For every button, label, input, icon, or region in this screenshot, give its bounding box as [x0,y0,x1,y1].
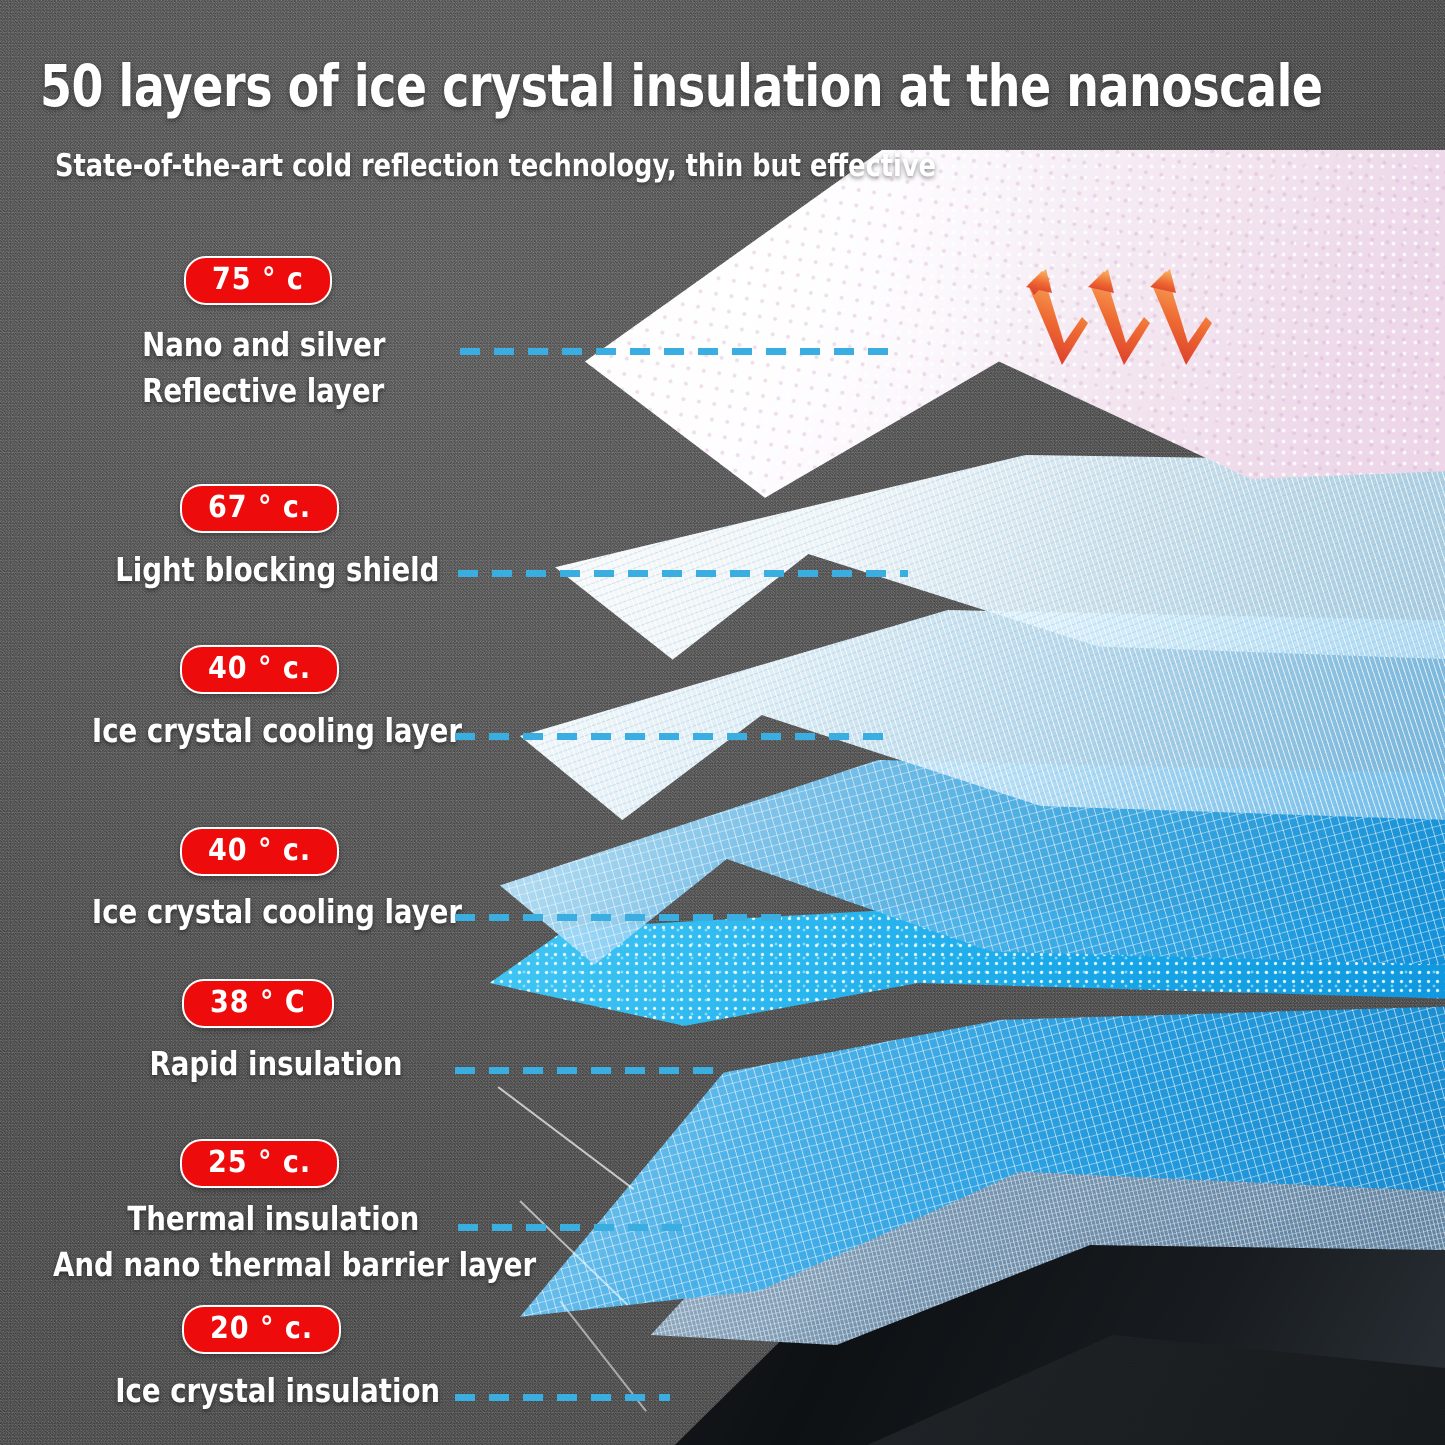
layer-label-1-line1: Nano and silver [142,322,385,368]
layer-label-1-line2: Reflective layer [142,368,385,414]
temperature-badge-4: 40 ° c. [180,827,339,876]
page-title: 50 layers of ice crystal insulation at t… [40,52,1323,120]
layer-label-4: Ice crystal cooling layer [92,890,462,935]
layer-label-2: Light blocking shield [115,548,439,593]
layer-label-5: Rapid insulation [150,1042,403,1087]
layer-label-6-line2: And nano thermal barrier layer [53,1242,536,1288]
page-subtitle: State-of-the-art cold reflection technol… [55,148,936,184]
leader-line-2 [458,570,908,577]
leader-line-1 [460,348,900,355]
temperature-badge-7: 20 ° c. [182,1305,341,1354]
leader-line-3 [455,733,895,740]
leader-line-6 [458,1224,698,1231]
leader-line-4 [455,914,785,921]
leader-line-5 [455,1067,715,1074]
temperature-badge-6: 25 ° c. [180,1139,339,1188]
layer-label-1: Nano and silver Reflective layer [142,322,385,413]
temperature-badge-2: 67 ° c. [180,484,339,533]
layer-label-7: Ice crystal insulation [115,1369,440,1414]
temperature-badge-3: 40 ° c. [180,645,339,694]
temperature-badge-1: 75 ° c [184,256,332,305]
layer-label-3: Ice crystal cooling layer [92,709,462,754]
layer-label-6-line1: Thermal insulation [127,1196,536,1242]
fiber-tip [497,1086,634,1190]
infographic-canvas: 50 layers of ice crystal insulation at t… [0,0,1445,1445]
reflected-heat-arrows [1020,255,1250,390]
temperature-badge-5: 38 ° C [182,979,334,1028]
layer-label-6: Thermal insulation And nano thermal barr… [127,1196,536,1287]
leader-line-7 [455,1394,670,1401]
